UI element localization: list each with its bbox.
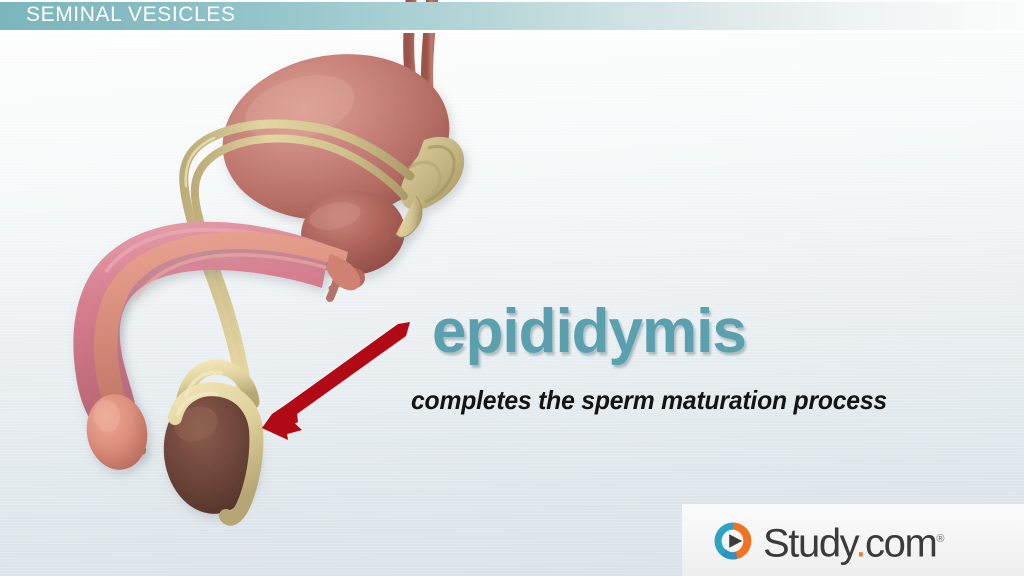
study-com-logo[interactable]: Study.com® (682, 504, 1024, 576)
callout-term: epididymis (432, 296, 746, 367)
callout-arrow (0, 0, 1024, 576)
play-circle-icon (712, 520, 754, 562)
header-divider (0, 30, 1024, 33)
page-title: SEMINAL VESICLES (26, 3, 236, 27)
slide-canvas: SEMINAL VESICLES (0, 0, 1024, 576)
logo-dot: . (855, 521, 865, 565)
logo-brand-primary: Study (763, 521, 855, 565)
logo-brand-secondary: com (865, 521, 936, 565)
logo-wordmark: Study.com® (763, 518, 945, 564)
callout-description: completes the sperm maturation process (411, 385, 887, 416)
registered-trademark-icon: ® (936, 533, 944, 545)
play-triangle-icon (729, 534, 742, 547)
